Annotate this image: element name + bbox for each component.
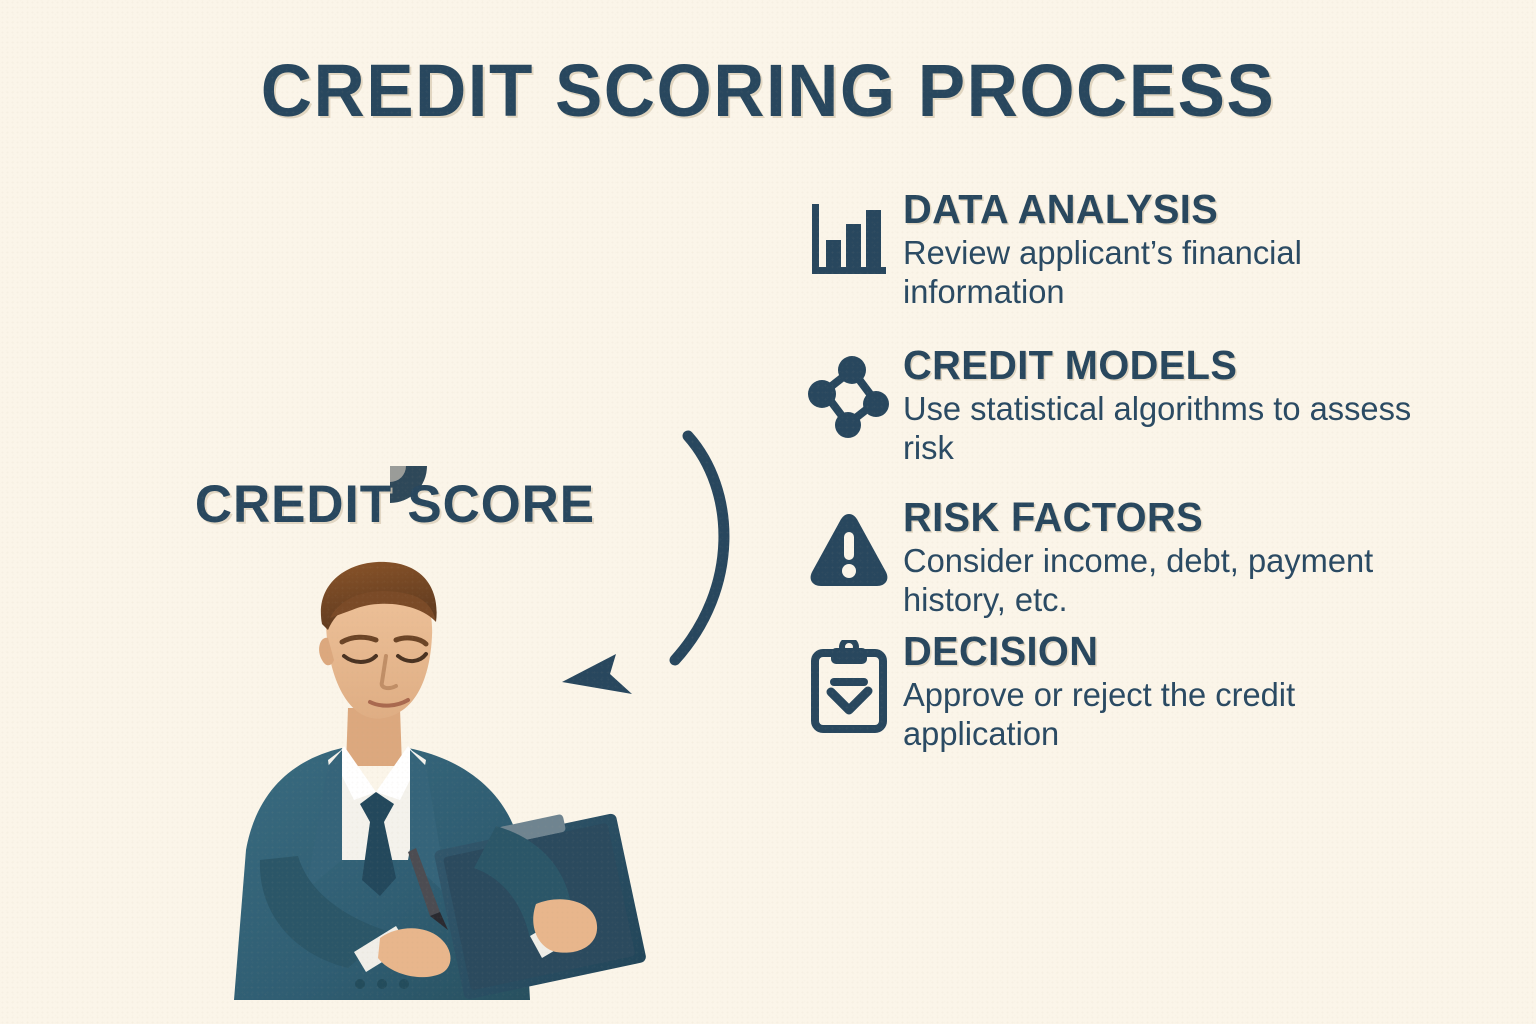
- process-steps-list: DATA ANALYSIS Review applicant’s financi…: [795, 186, 1495, 766]
- step-description: Consider income, debt, payment history, …: [903, 542, 1430, 620]
- step-item-credit-models[interactable]: CREDIT MODELS Use statistical algorithms…: [795, 342, 1495, 468]
- gauge-segment-poor-shade: [137, 368, 261, 466]
- gauge-inner-outline: [250, 326, 530, 466]
- step-title: DECISION: [903, 630, 1477, 673]
- clipboard-check-icon: [806, 640, 892, 734]
- step-description: Use statistical algorithms to assess ris…: [903, 390, 1430, 468]
- step-description: Approve or reject the credit application: [903, 676, 1430, 754]
- step-text: RISK FACTORS Consider income, debt, paym…: [903, 494, 1495, 620]
- step-text: DECISION Approve or reject the credit ap…: [903, 628, 1495, 754]
- suit-button-1: [355, 979, 365, 989]
- gauge-segment-poor: [137, 287, 291, 466]
- loan-officer-illustration: [230, 560, 700, 1024]
- step-icon-slot: [795, 186, 903, 296]
- gauge-segment-fair: [211, 213, 390, 367]
- gauge-segment-average: [390, 213, 569, 367]
- step-item-decision[interactable]: DECISION Approve or reject the credit ap…: [795, 628, 1495, 754]
- warning-triangle-icon: [806, 506, 892, 592]
- step-icon-slot: [795, 494, 903, 604]
- suit-button-2: [377, 979, 387, 989]
- step-text: DATA ANALYSIS Review applicant’s financi…: [903, 186, 1495, 312]
- step-item-data-analysis[interactable]: DATA ANALYSIS Review applicant’s financi…: [795, 186, 1495, 312]
- step-title: RISK FACTORS: [903, 496, 1477, 539]
- infographic-canvas: CREDIT SCORING PROCESS: [0, 0, 1536, 1024]
- gauge-label-poor: POOR: [152, 430, 236, 460]
- step-description: Review applicant’s financial information: [903, 234, 1430, 312]
- bar-chart-icon: [806, 198, 892, 284]
- step-icon-slot: [795, 342, 903, 452]
- step-icon-slot: [795, 628, 903, 738]
- network-nodes-icon: [806, 354, 892, 440]
- suit-button-3: [399, 979, 409, 989]
- step-title: DATA ANALYSIS: [903, 188, 1477, 231]
- step-text: CREDIT MODELS Use statistical algorithms…: [903, 342, 1495, 468]
- page-title: CREDIT SCORING PROCESS: [31, 54, 1506, 128]
- step-title: CREDIT MODELS: [903, 344, 1477, 387]
- step-item-risk-factors[interactable]: RISK FACTORS Consider income, debt, paym…: [795, 494, 1495, 620]
